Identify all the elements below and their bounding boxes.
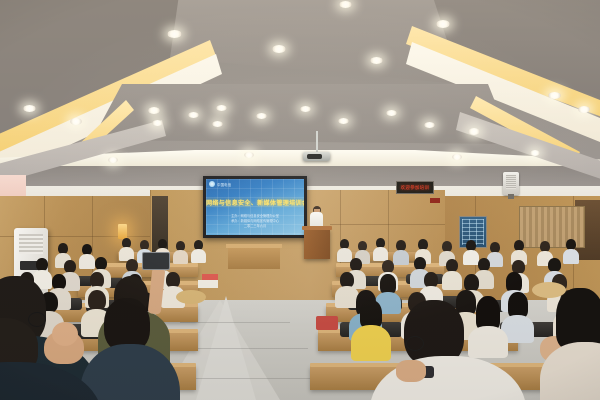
downlight — [188, 112, 199, 118]
slide-logo-text: 中国电信 — [217, 182, 231, 187]
audience-hand — [396, 360, 426, 382]
audience-hands — [52, 322, 78, 346]
slide-logo: 中国电信 — [209, 181, 231, 187]
projector-mount-arm — [316, 131, 318, 153]
downlight — [300, 106, 311, 112]
led-scrolling-sign: 欢迎参加培训 — [396, 181, 434, 194]
downlight — [468, 128, 480, 135]
projector-lens — [307, 154, 322, 159]
ac-vent — [19, 234, 43, 254]
downlight — [370, 57, 383, 64]
downlight — [386, 110, 397, 116]
downlight — [436, 20, 450, 28]
slide-logo-mark — [209, 181, 215, 187]
projection-screen: 中国电信 网络与信息安全、新媒体管理培训会 主办：网络与信息安全管理办公室 承办… — [206, 179, 304, 235]
slide-title: 网络与信息安全、新媒体管理培训会 — [206, 198, 304, 207]
downlight — [452, 154, 462, 160]
wall-sconce-light — [118, 224, 127, 239]
downlight — [216, 105, 227, 111]
eyeglasses — [406, 336, 424, 351]
downlight — [256, 113, 267, 119]
podium-top — [302, 226, 332, 230]
downlight — [338, 118, 349, 124]
slide-subtitle: 主办：网络与信息安全管理办公室 承办：新媒体与网络宣传管理中心 二零二三年六月 — [206, 214, 304, 230]
floor-tile-line — [180, 322, 290, 323]
led-sign-text: 欢迎参加培训 — [401, 185, 430, 191]
downlight — [108, 157, 118, 163]
downlight — [70, 118, 82, 125]
downlight — [148, 107, 160, 114]
downlight — [578, 106, 590, 113]
smartphone[interactable] — [142, 252, 170, 270]
downlight — [23, 105, 36, 112]
downlight — [272, 45, 286, 53]
downlight — [244, 152, 254, 158]
desk-item-paper — [198, 280, 218, 288]
ceiling-projector — [303, 152, 330, 161]
downlight — [424, 122, 435, 128]
slide-subtitle-line-3: 二零二三年六月 — [206, 224, 304, 229]
eyeglasses — [28, 312, 46, 327]
desk-item-paper — [202, 274, 218, 280]
downlight — [167, 30, 182, 38]
downlight — [212, 121, 223, 127]
lecture-hall-photo: 欢迎参加培训 中国电信 网络与信息安全、新媒体管理培训会 主办：网络与信息安全管… — [0, 0, 600, 400]
wall-speaker — [503, 172, 519, 195]
downlight — [548, 92, 561, 99]
front-table — [228, 247, 280, 269]
downlight — [530, 150, 540, 156]
projection-screen-frame: 中国电信 网络与信息安全、新媒体管理培训会 主办：网络与信息安全管理办公室 承办… — [203, 176, 307, 238]
downlight — [339, 1, 352, 8]
speaker-bracket — [508, 194, 514, 199]
desk-item-hat — [532, 282, 566, 298]
podium — [304, 229, 330, 259]
downlight — [152, 120, 163, 126]
exit-sign — [430, 198, 440, 203]
desk-item-bag — [316, 316, 338, 330]
desk-item-hat — [176, 290, 206, 304]
front-table-edge — [226, 244, 282, 248]
